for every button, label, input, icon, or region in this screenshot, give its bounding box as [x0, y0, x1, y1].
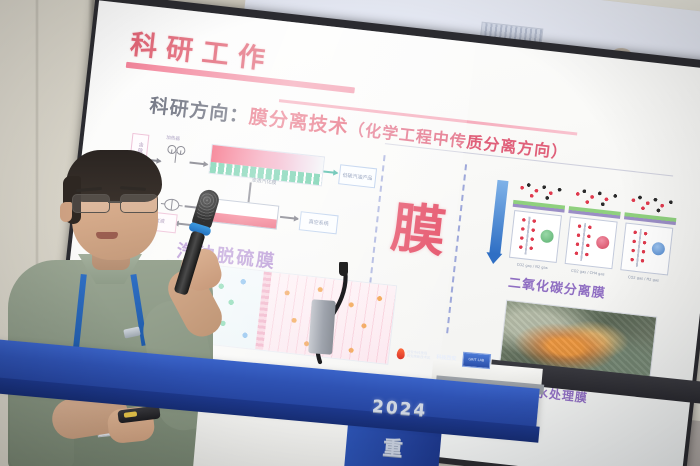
glasses-icon — [70, 194, 162, 211]
lens-left — [72, 194, 110, 213]
center-character: 膜 — [388, 183, 450, 268]
screenshot-root: 科研工作 科研方向：膜分离技术（化学工程中传质分离方向） 膜 含硫汽油原料 加热… — [0, 0, 700, 466]
arrow-to-product — [323, 170, 337, 173]
co2-cell-1-caption: CO2 gas / N2 gas — [506, 261, 558, 271]
co2-cell-1: CO2 gas / N2 gas — [506, 180, 567, 269]
sponsor-logo-flame-text: 西安市科技局 西安高新技术区 — [406, 350, 430, 361]
sponsor-logo-boxed: GRIT LAB — [462, 351, 491, 368]
subtitle-parenthetical: （化学工程中传质分离方向） — [347, 119, 569, 163]
co2-cell-3: CO2 gas / H2 gas — [618, 192, 679, 281]
arrow-tank-to-vacuum — [280, 216, 298, 219]
gas-molecule-marker — [651, 242, 665, 256]
clicker-button[interactable] — [124, 411, 138, 418]
gas-molecule-marker — [596, 235, 610, 249]
lens-right — [120, 194, 158, 213]
lectern-partial-character: 重 — [382, 431, 404, 462]
node-vacuum: 真空系统 — [299, 211, 339, 234]
gas-molecule-marker — [540, 229, 554, 243]
sponsor-logo-flame: 西安市科技局 西安高新技术区 — [396, 347, 431, 361]
node-product: 低硫汽油产品 — [338, 164, 377, 188]
subtitle-highlight: 膜分离技术 — [248, 106, 350, 139]
cell-frame — [509, 210, 562, 263]
co2-cell-2: CO2 gas / CH4 gas — [562, 186, 623, 275]
polymer-chain — [516, 216, 538, 256]
co2-cell-2-caption: CO2 gas / CH4 gas — [562, 268, 614, 278]
glasses-bridge — [108, 201, 122, 203]
label-heater: 加热器 — [166, 135, 180, 143]
sponsor-logo-wordmark: 科技西安 — [436, 353, 457, 362]
sponsor-logo-boxed-text: GRIT LAB — [468, 357, 484, 362]
polymer-chain — [628, 228, 650, 268]
subtitle-label: 科研方向： — [148, 95, 250, 128]
cell-frame — [620, 222, 673, 275]
co2-cell-3-caption: CO2 gas / H2 gas — [617, 274, 669, 284]
gooseneck-mic-base — [308, 299, 336, 355]
cell-frame — [565, 216, 618, 269]
flame-icon — [396, 347, 405, 359]
presenter-mouth — [96, 232, 118, 239]
microphone-mesh — [195, 190, 219, 223]
polymer-chain — [572, 222, 594, 262]
pressure-arrow-icon — [489, 180, 508, 255]
